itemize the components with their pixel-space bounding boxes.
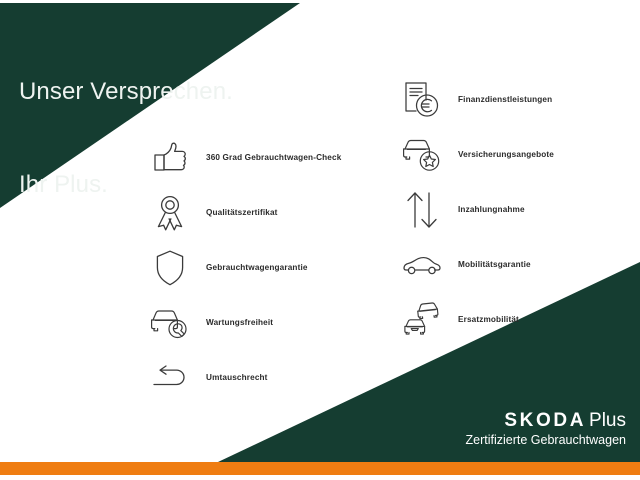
document-euro-icon xyxy=(400,78,444,122)
feature-label: Inzahlungnahme xyxy=(458,205,525,214)
car-wrench-icon xyxy=(148,301,192,345)
feature-item-gebrauchtwagengarantie: Gebrauchtwagengarantie xyxy=(148,240,378,295)
up-down-arrows-icon xyxy=(400,188,444,232)
shield-icon xyxy=(148,246,192,290)
car-star-icon xyxy=(400,133,444,177)
plus-wordmark: Plus xyxy=(589,410,626,431)
feature-label: Qualitätszertifikat xyxy=(206,208,278,217)
feature-item-wartungsfreiheit: Wartungsfreiheit xyxy=(148,295,378,350)
feature-label: Umtauschrecht xyxy=(206,373,268,382)
brand-lockup: SKODAPlus Zertifizierte Gebrauchtwagen xyxy=(466,410,627,448)
feature-label: Versicherungsangebote xyxy=(458,150,554,159)
feature-item-mobilitaetsgarantie: Mobilitätsgarantie xyxy=(400,237,630,292)
award-rosette-icon xyxy=(148,191,192,235)
feature-item-inzahlungnahme: Inzahlungnahme xyxy=(400,182,630,237)
return-arrow-icon xyxy=(148,356,192,400)
bottom-white-margin xyxy=(0,475,640,480)
feature-label: Mobilitätsgarantie xyxy=(458,260,531,269)
feature-item-umtauschrecht: Umtauschrecht xyxy=(148,350,378,405)
top-white-margin xyxy=(0,0,640,3)
orange-accent-bar xyxy=(0,462,640,475)
feature-item-qualitaetszertifikat: Qualitätszertifikat xyxy=(148,185,378,240)
feature-item-versicherungsangebote: Versicherungsangebote xyxy=(400,127,630,182)
feature-label: Wartungsfreiheit xyxy=(206,318,273,327)
feature-item-finanzdienstleistungen: Finanzdienstleistungen xyxy=(400,72,630,127)
feature-label: Gebrauchtwagengarantie xyxy=(206,263,308,272)
brand-name-row: SKODAPlus xyxy=(466,410,627,432)
feature-label: Finanzdienstleistungen xyxy=(458,95,552,104)
promo-banner: Unser Versprechen. Ihr Plus. 360 Grad Ge… xyxy=(0,0,640,480)
feature-list-left: 360 Grad Gebrauchtwagen-Check Qualitätsz… xyxy=(148,130,378,405)
feature-list-right: Finanzdienstleistungen Versicherungsange… xyxy=(400,72,630,347)
feature-label: Ersatzmobilität xyxy=(458,315,519,324)
skoda-wordmark: SKODA xyxy=(504,410,586,431)
feature-item-ersatzmobilitaet: Ersatzmobilität xyxy=(400,292,630,347)
feature-item-gebrauchtwagen-check: 360 Grad Gebrauchtwagen-Check xyxy=(148,130,378,185)
headline-line-1: Unser Versprechen. xyxy=(19,76,233,107)
two-cars-icon xyxy=(400,298,444,342)
feature-label: 360 Grad Gebrauchtwagen-Check xyxy=(206,153,341,162)
car-side-icon xyxy=(400,243,444,287)
thumbs-up-icon xyxy=(148,136,192,180)
brand-tagline: Zertifizierte Gebrauchtwagen xyxy=(466,432,627,448)
